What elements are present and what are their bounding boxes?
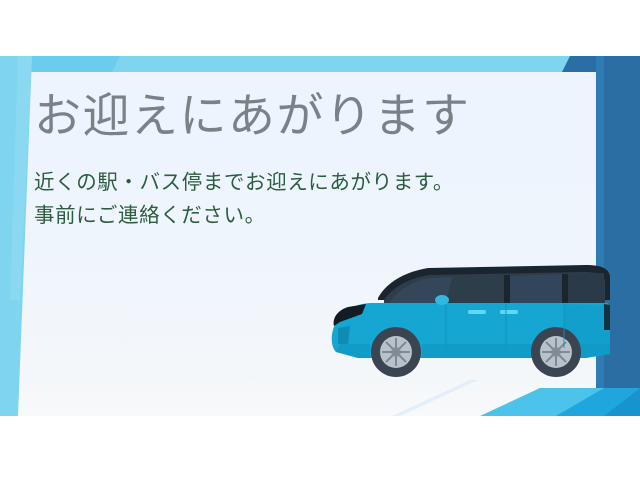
body-copy: 近くの駅・バス停までお迎えにあがります。 事前にご連絡ください。 <box>34 166 554 232</box>
promo-banner: お迎えにあがります 近くの駅・バス停までお迎えにあがります。 事前にご連絡くださ… <box>0 0 640 480</box>
minivan-illustration <box>318 248 618 393</box>
text-block: お迎えにあがります 近くの駅・バス停までお迎えにあがります。 事前にご連絡くださ… <box>34 92 554 232</box>
body-line-2: 事前にご連絡ください。 <box>34 199 554 232</box>
sliding-door-window <box>510 274 562 304</box>
rear-quarter-window <box>568 273 604 304</box>
tail-light <box>604 304 610 330</box>
rear-door-handle <box>500 310 518 314</box>
headlight <box>338 326 350 344</box>
front-wheel-spokes <box>382 338 410 366</box>
side-mirror <box>435 295 449 305</box>
page-title: お迎えにあがります <box>34 92 554 143</box>
c-pillar <box>562 274 568 305</box>
front-door-handle <box>468 310 486 314</box>
rear-wheel-spokes <box>542 338 570 366</box>
front-door-window <box>452 276 504 304</box>
b-pillar <box>504 275 510 305</box>
body-line-1: 近くの駅・バス停までお迎えにあがります。 <box>34 166 554 199</box>
